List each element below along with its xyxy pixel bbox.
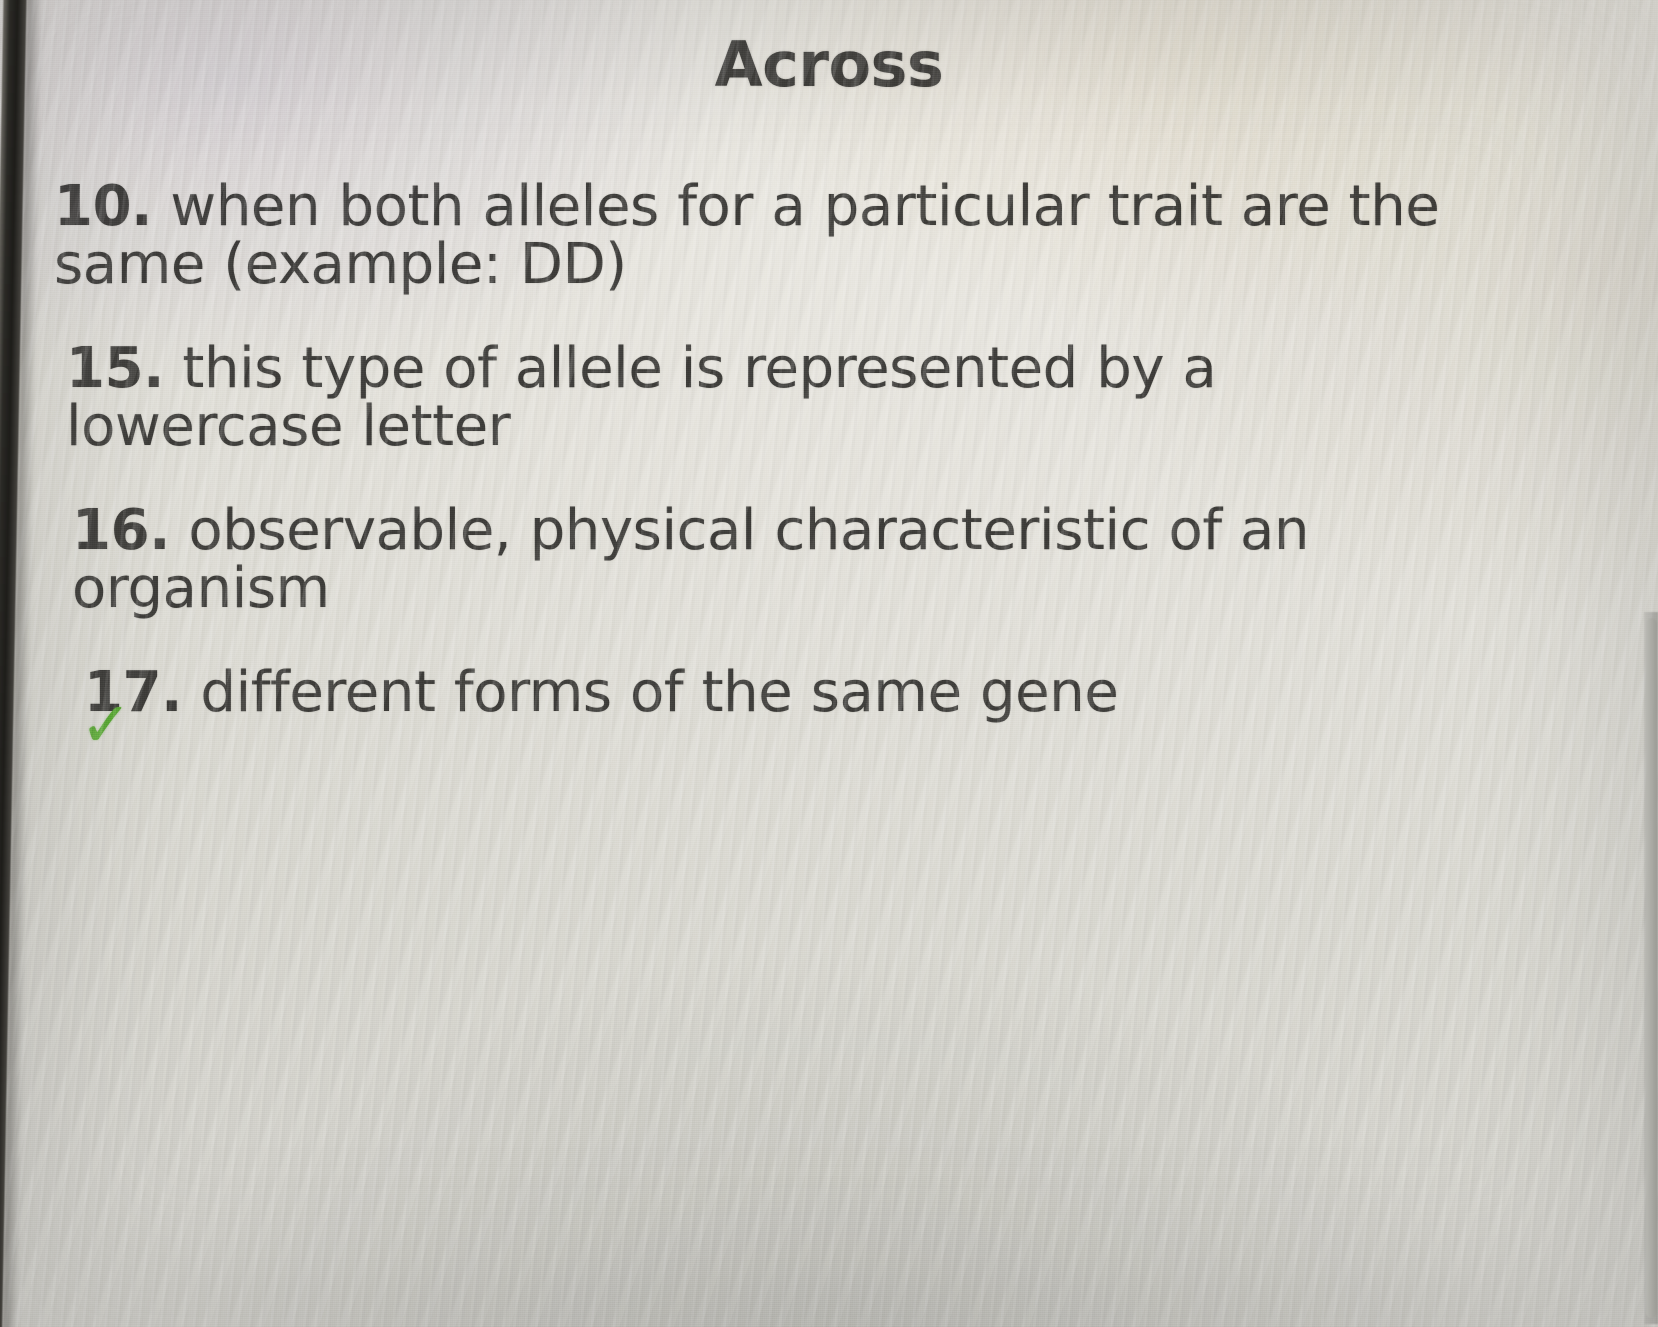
clue-number-10: 10. bbox=[54, 174, 152, 239]
scrollbar-thumb[interactable] bbox=[1646, 618, 1657, 1318]
clue-item-16[interactable]: 16. observable, physical characteristic … bbox=[0, 502, 1530, 618]
screen-photo-stage: Across 10. when both alleles for a parti… bbox=[0, 0, 1658, 1327]
crossword-clue-panel: Across 10. when both alleles for a parti… bbox=[0, 0, 1658, 1327]
page-title: Across bbox=[0, 28, 1658, 101]
clue-number-15: 15. bbox=[66, 336, 164, 401]
clue-text-15: this type of allele is represented by a … bbox=[66, 336, 1216, 459]
clue-number-16: 16. bbox=[72, 498, 170, 563]
clue-text-17: different forms of the same gene bbox=[200, 660, 1118, 725]
clue-text-10: when both alleles for a particular trait… bbox=[54, 174, 1439, 297]
check-icon: ✓ bbox=[80, 694, 132, 756]
clue-item-17[interactable]: ✓ 17. different forms of the same gene bbox=[0, 664, 1530, 722]
clue-text-16: observable, physical characteristic of a… bbox=[72, 498, 1309, 621]
clue-item-15[interactable]: 15. this type of allele is represented b… bbox=[0, 340, 1530, 456]
across-clue-list: 10. when both alleles for a particular t… bbox=[0, 178, 1530, 768]
clue-item-10[interactable]: 10. when both alleles for a particular t… bbox=[0, 178, 1530, 294]
